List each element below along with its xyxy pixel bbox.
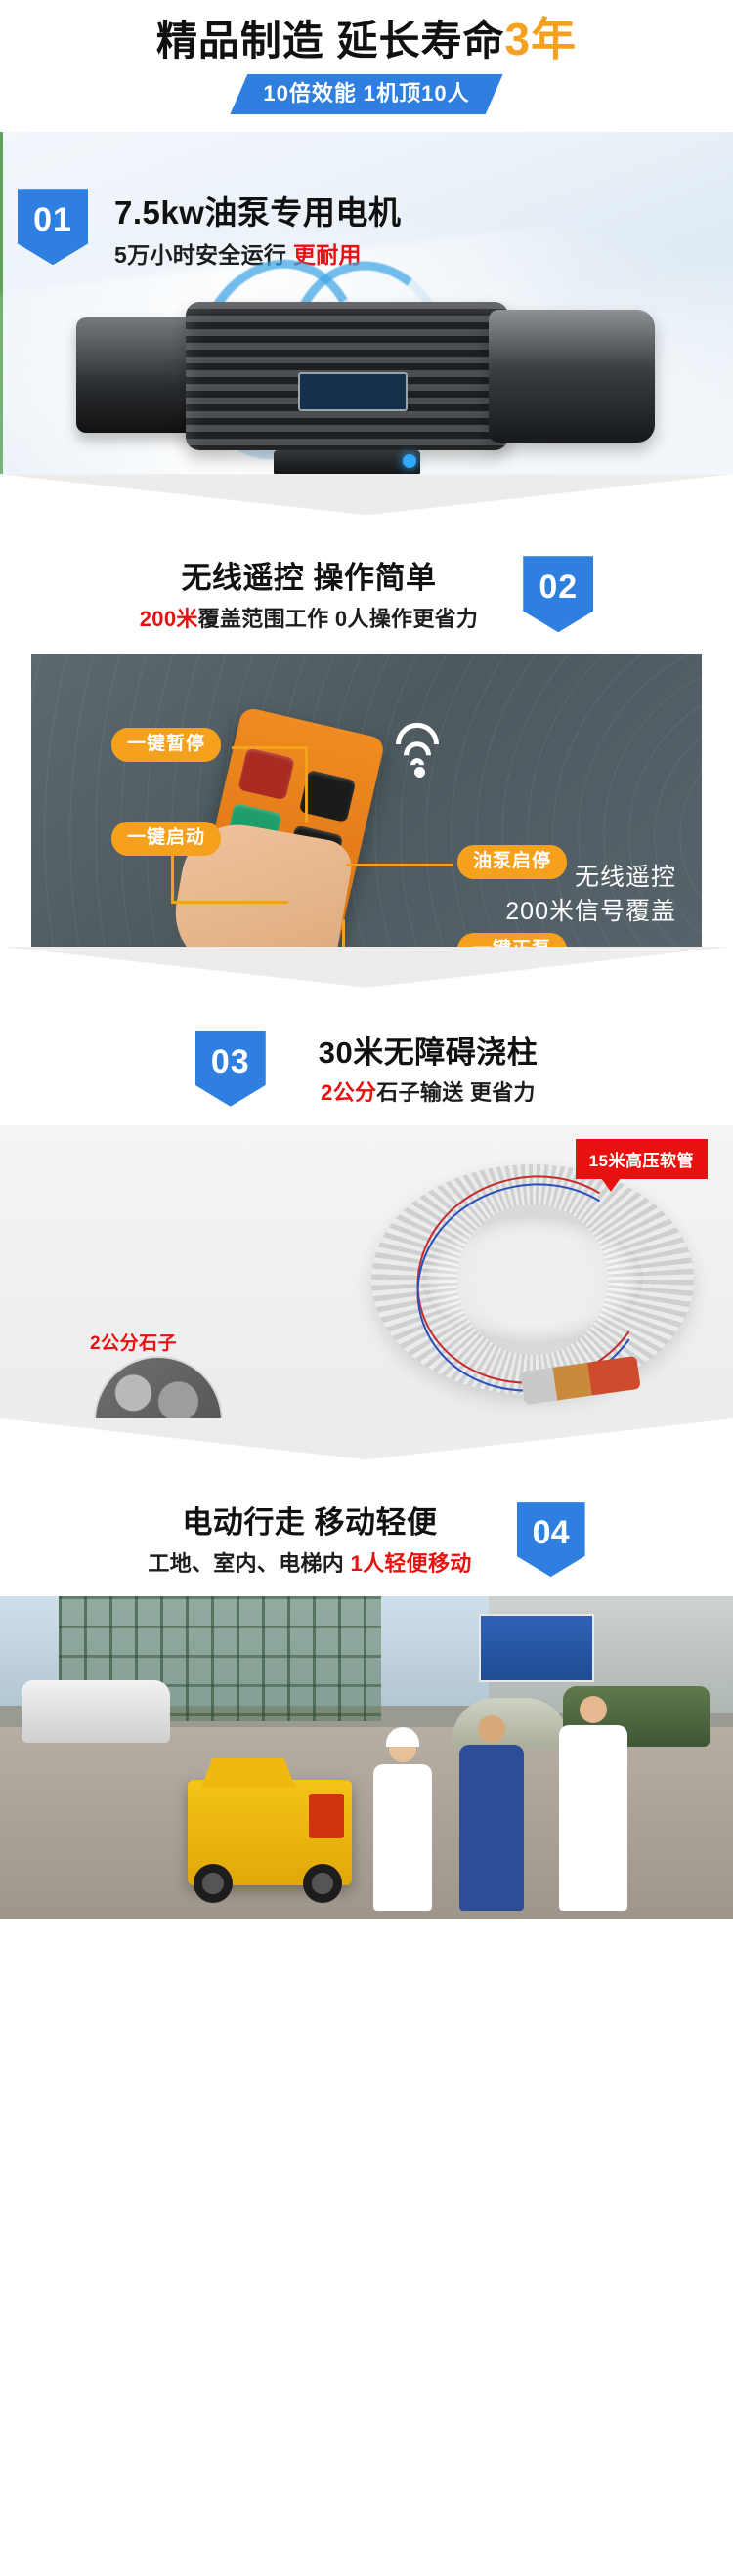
section-04-subtitle-plain: 工地、室内、电梯内 xyxy=(148,1551,350,1576)
callout-line-pause-v xyxy=(305,746,308,823)
section-02-remote: 无线遥控 操作简单 200米覆盖范围工作 0人操作更省力 02 xyxy=(0,558,733,946)
site-worker-3 xyxy=(559,1725,627,1911)
section-04-subtitle-accent: 1人轻便移动 xyxy=(351,1551,472,1576)
remote-caption-line1: 无线遥控 xyxy=(505,861,676,895)
section-04-subtitle: 工地、室内、电梯内 1人轻便移动 xyxy=(148,1549,471,1579)
section-04-site-photo xyxy=(0,1596,733,1919)
worker-head xyxy=(478,1715,505,1743)
remote-caption: 无线遥控 200米信号覆盖 xyxy=(505,861,676,929)
machine-wheel-left xyxy=(194,1864,233,1903)
section-02-text: 无线遥控 操作简单 200米覆盖范围工作 0人操作更省力 xyxy=(140,558,478,633)
section-04-header: 电动行走 移动轻便 工地、室内、电梯内 1人轻便移动 04 xyxy=(0,1502,733,1578)
section-03-hose-photo: 15米高压软管 2公分石子 1 2 xyxy=(0,1125,733,1418)
section-03-subtitle: 2公分石子输送 更省力 xyxy=(319,1078,538,1108)
banner-ribbon-wrap: 10倍效能 1机顶10人 xyxy=(0,74,733,114)
motor-rear-housing xyxy=(489,310,655,443)
banner-title-accent: 3年 xyxy=(505,14,578,64)
callout-one-key-start: 一键启动 xyxy=(111,822,221,856)
section-02-subtitle: 200米覆盖范围工作 0人操作更省力 xyxy=(140,605,478,634)
wedge-triangle xyxy=(0,947,733,988)
section-03-subtitle-plain: 石子输送 更省力 xyxy=(376,1080,536,1105)
section-03-subtitle-accent: 2公分 xyxy=(321,1080,376,1105)
motor-front-housing xyxy=(76,317,203,433)
machine-wheel-right xyxy=(303,1864,342,1903)
wifi-signal-icon xyxy=(417,730,472,775)
section-04-text: 电动行走 移动轻便 工地、室内、电梯内 1人轻便移动 xyxy=(148,1502,471,1578)
section-03-hose: 03 30米无障碍浇柱 2公分石子输送 更省力 15米高压软管 2公分石子 1 … xyxy=(0,1031,733,1418)
section-03-header: 03 30米无障碍浇柱 2公分石子输送 更省力 xyxy=(0,1031,733,1108)
worker-head xyxy=(580,1696,607,1723)
top-banner: 精品制造 延长寿命3年 10倍效能 1机顶10人 xyxy=(0,0,733,114)
banner-title: 精品制造 延长寿命3年 xyxy=(0,14,733,65)
section-02-title: 无线遥控 操作简单 xyxy=(140,560,478,598)
callout-line-pause xyxy=(232,746,308,749)
wifi-dot xyxy=(414,767,425,778)
section-03-badge: 03 xyxy=(195,1031,266,1107)
banner-title-main: 精品制造 延长寿命 xyxy=(156,18,505,63)
divider-wedge-1 xyxy=(0,474,733,515)
label-2cm-gravel: 2公分石子 xyxy=(90,1329,177,1355)
banner-ribbon: 10倍效能 1机顶10人 xyxy=(230,74,502,114)
section-04-mobility: 电动行走 移动轻便 工地、室内、电梯内 1人轻便移动 04 xyxy=(0,1502,733,1918)
machine-hopper xyxy=(201,1758,295,1788)
section-01-motor: 01 7.5kw油泵专用电机 5万小时安全运行 更耐用 xyxy=(0,132,733,474)
callout-one-key-pause: 一键暂停 xyxy=(111,728,221,762)
section-02-subtitle-accent: 200米 xyxy=(140,607,198,631)
machine-control-panel xyxy=(309,1794,344,1838)
site-white-van xyxy=(22,1680,170,1743)
section-02-badge: 02 xyxy=(523,556,593,632)
section-02-header: 无线遥控 操作简单 200米覆盖范围工作 0人操作更省力 02 xyxy=(0,558,733,633)
product-detail-page: 精品制造 延长寿命3年 10倍效能 1机顶10人 01 7.5kw油泵专用电机 … xyxy=(0,0,733,2576)
callout-one-key-forward: 一键正泵 xyxy=(457,933,567,947)
divider-wedge-2 xyxy=(0,947,733,988)
tag-15m-high-pressure-hose: 15米高压软管 xyxy=(576,1139,708,1179)
wedge-triangle xyxy=(0,1418,733,1459)
section-02-subtitle-plain: 覆盖范围工作 0人操作更省力 xyxy=(198,607,479,631)
section-04-title: 电动行走 移动轻便 xyxy=(148,1504,471,1542)
callout-line-pump xyxy=(346,864,453,866)
section-01-title: 7.5kw油泵专用电机 xyxy=(114,192,401,232)
site-worker-1 xyxy=(373,1764,432,1911)
section-04-badge: 04 xyxy=(517,1502,585,1577)
site-worker-2 xyxy=(459,1745,524,1911)
gravel-photo-circle: 1 2 xyxy=(94,1356,223,1418)
callout-line-forward-v xyxy=(342,919,345,947)
callout-line-start xyxy=(171,901,288,904)
section-03-title: 30米无障碍浇柱 xyxy=(319,1035,538,1073)
section-03-text: 30米无障碍浇柱 2公分石子输送 更省力 xyxy=(319,1031,538,1108)
motor-illustration xyxy=(59,288,674,466)
section-01-motor-photo xyxy=(0,249,733,474)
divider-wedge-3 xyxy=(0,1418,733,1459)
site-info-board xyxy=(479,1614,594,1682)
motor-nameplate xyxy=(298,372,408,411)
remote-key-stop xyxy=(237,747,295,800)
wedge-triangle xyxy=(0,474,733,515)
remote-caption-line2: 200米信号覆盖 xyxy=(505,895,676,929)
motor-mounting-foot xyxy=(274,450,420,474)
section-02-remote-photo: 一键暂停 一键启动 油泵启停 一键正泵 一键反泵 无线遥控 200米信号覆盖 xyxy=(31,654,702,947)
